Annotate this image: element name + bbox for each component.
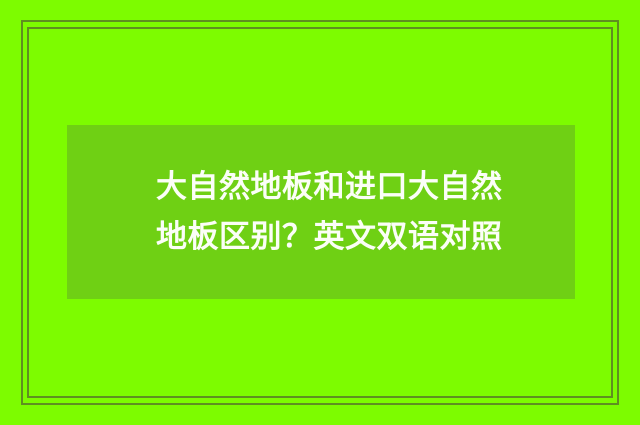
title-line-1: 大自然地板和进口大自然 xyxy=(156,162,503,212)
banner-canvas: 大自然地板和进口大自然 地板区别？英文双语对照 xyxy=(0,0,640,425)
title-panel: 大自然地板和进口大自然 地板区别？英文双语对照 xyxy=(67,125,575,299)
title-line-2: 地板区别？英文双语对照 xyxy=(156,212,503,262)
